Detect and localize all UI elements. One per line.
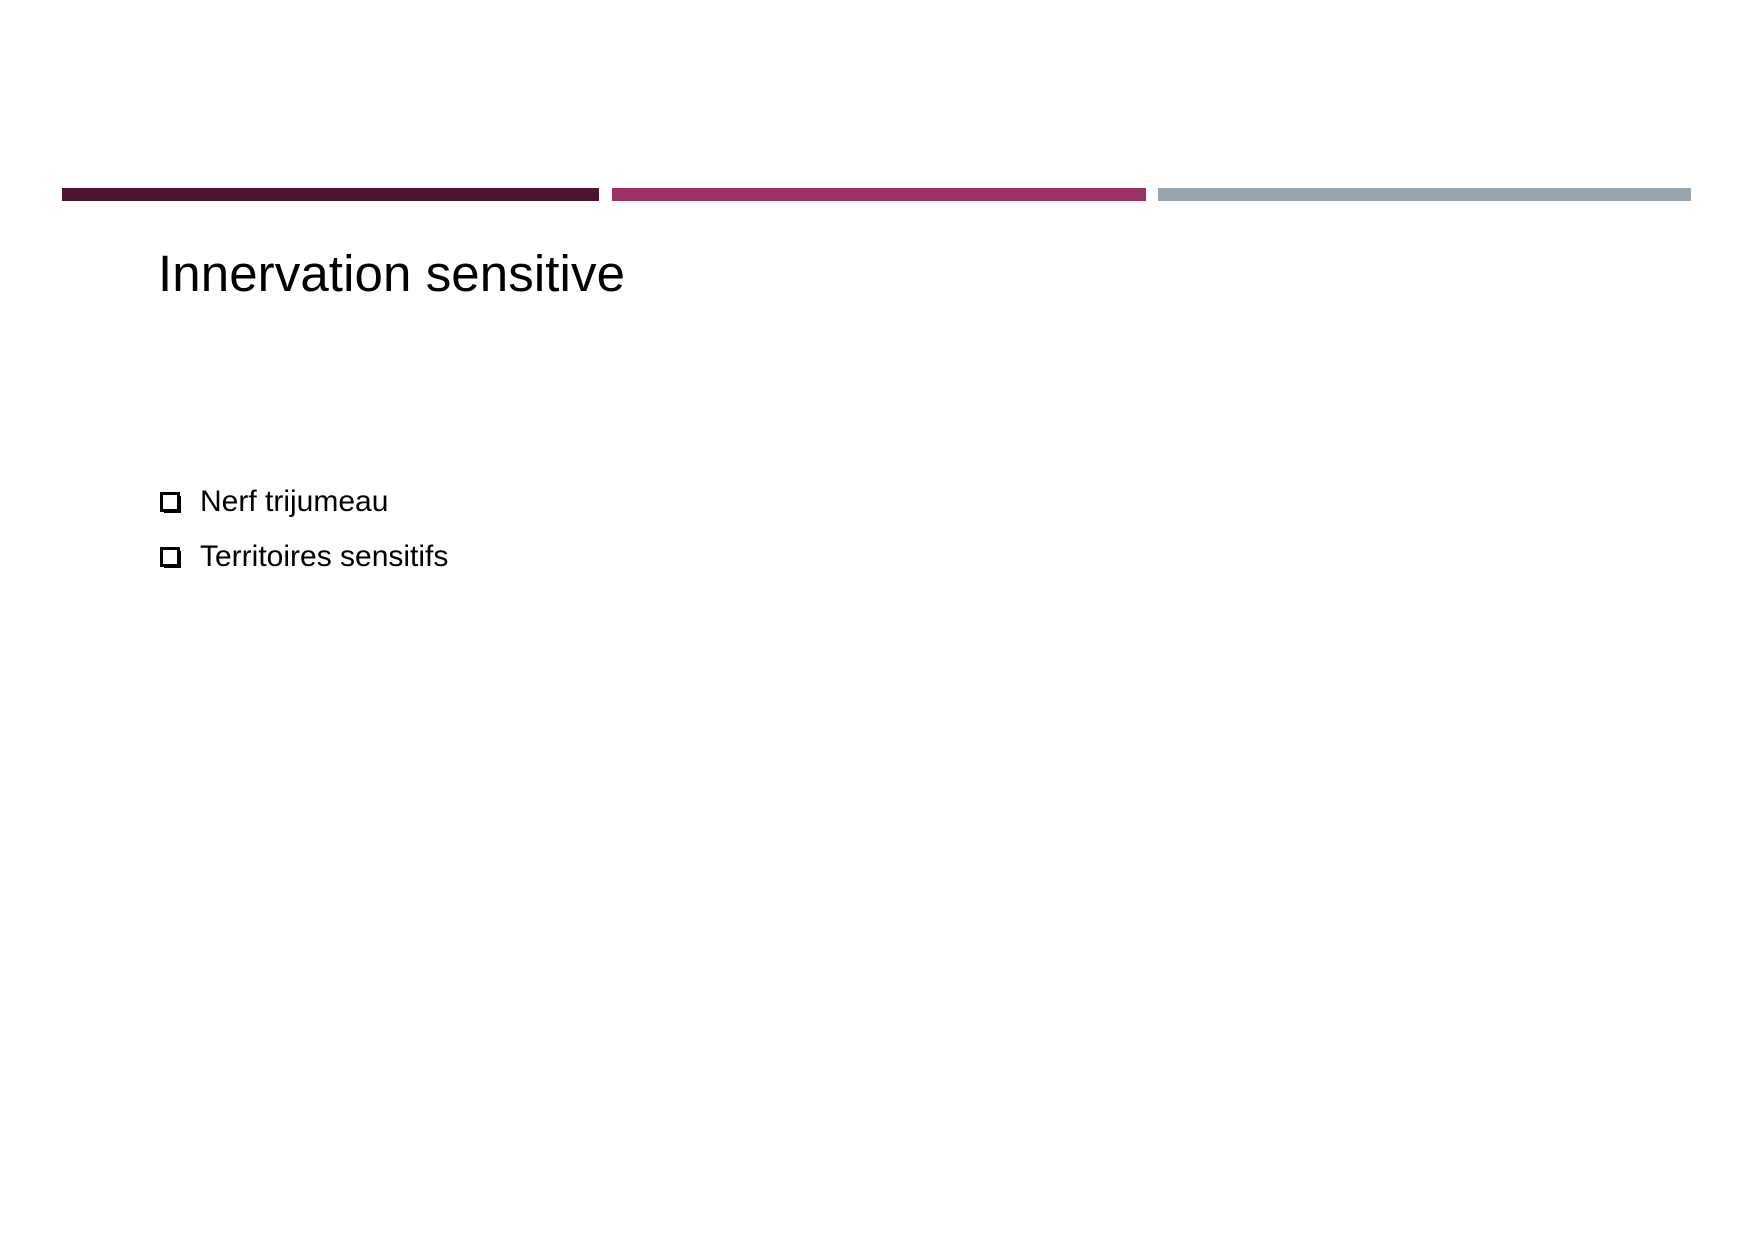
slide-canvas: Innervation sensitive Nerf trijumeau Ter…	[0, 0, 1754, 1241]
list-item: Nerf trijumeau	[160, 483, 1460, 521]
hollow-square-bullet-icon	[160, 547, 182, 569]
accent-bar-dark-plum	[62, 188, 599, 201]
header-accent-rule	[0, 188, 1754, 201]
slide-title: Innervation sensitive	[158, 243, 1558, 305]
accent-bar-raspberry	[612, 188, 1146, 201]
list-item-label: Territoires sensitifs	[200, 538, 448, 576]
list-item: Territoires sensitifs	[160, 538, 1460, 576]
accent-bar-blue-gray	[1158, 188, 1691, 201]
bullet-list: Nerf trijumeau Territoires sensitifs	[160, 483, 1460, 593]
hollow-square-bullet-icon	[160, 492, 182, 514]
list-item-label: Nerf trijumeau	[200, 483, 388, 521]
